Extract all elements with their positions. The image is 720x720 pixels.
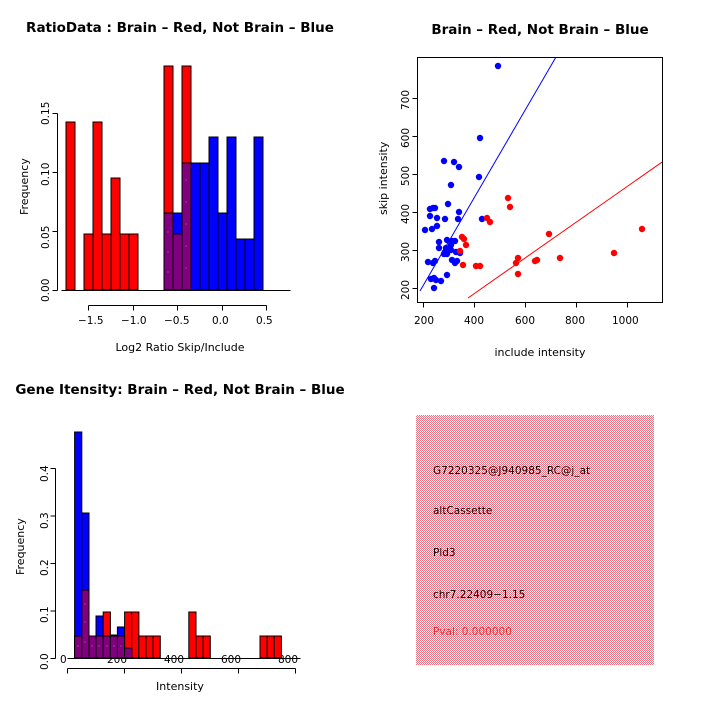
info-box-background xyxy=(360,360,720,720)
scatter-blue-fit-line xyxy=(420,57,556,291)
gene-hist-y-axis xyxy=(51,469,56,659)
info-gene-symbol: Pld3 xyxy=(433,547,456,559)
scatter-red-fit-line xyxy=(468,160,665,298)
scatter-blue-points xyxy=(422,63,501,291)
info-event-type: altCassette xyxy=(433,505,492,517)
panel-ratio-histogram: RatioData : Brain – Red, Not Brain – Blu… xyxy=(0,0,360,360)
scatter-y-ticks xyxy=(413,99,418,289)
scatter-plot xyxy=(360,0,720,360)
gene-hist-x-axis xyxy=(68,669,296,674)
gene-hist-plot xyxy=(0,360,360,720)
panel-gene-info: G7220325@J940985_RC@j_at altCassette Pld… xyxy=(360,360,720,720)
info-pvalue: Pval: 0.000000 xyxy=(433,626,512,638)
panel-intensity-scatter: Brain – Red, Not Brain – Blue skip inten… xyxy=(360,0,720,360)
info-probe-id: G7220325@J940985_RC@j_at xyxy=(433,465,590,477)
panel-gene-histogram: Gene Itensity: Brain – Red, Not Brain – … xyxy=(0,360,360,720)
info-locus: chr7.22409−1.15 xyxy=(433,589,525,601)
scatter-x-ticks xyxy=(424,303,628,308)
figure-canvas: RatioData : Brain – Red, Not Brain – Blu… xyxy=(0,0,720,720)
ratio-hist-y-axis xyxy=(53,114,58,291)
ratio-hist-x-axis xyxy=(89,306,267,311)
ratio-hist-plot xyxy=(0,0,360,360)
scatter-red-points xyxy=(457,195,669,277)
